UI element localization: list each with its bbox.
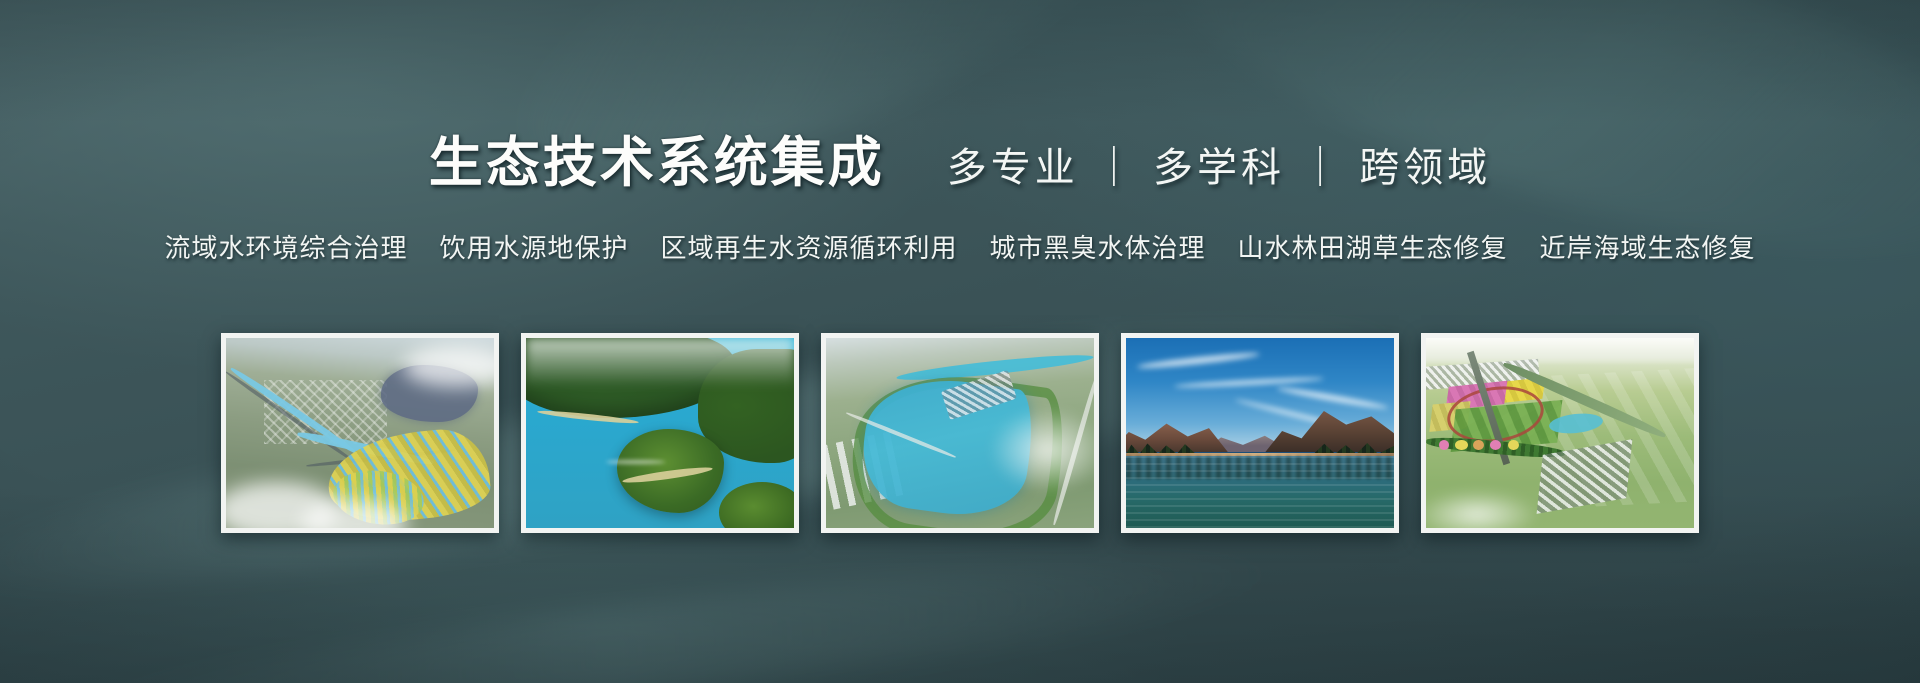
thumbnail-mountain-lake-reflection[interactable]: [1121, 333, 1399, 533]
thumbnail-reclaimed-water-corridor[interactable]: [821, 333, 1099, 533]
art5-horizon-glow: [1426, 338, 1694, 365]
art5-garden-plot-3: [1473, 440, 1484, 451]
thumbnail-image-2: [526, 338, 794, 528]
tagline-item-4: 城市黑臭水体治理: [990, 228, 1206, 265]
thumbnail-farmland-ecological-restoration[interactable]: [1421, 333, 1699, 533]
art2-water-glint: [606, 460, 665, 464]
thumbnail-image-1: [226, 338, 494, 528]
art3-mist: [987, 406, 1094, 493]
thumbnail-image-3: [826, 338, 1094, 528]
art-farmland-restoration: [1426, 338, 1694, 528]
art5-garden-plot-1: [1439, 440, 1450, 451]
art5-garden-plot-4: [1490, 440, 1502, 451]
hero-banner: 生态技术系统集成 多专业 ｜ 多学科 ｜ 跨领域 流域水环境综合治理 饮用水源地…: [0, 0, 1920, 683]
thumbnail-reservoir-source-protection[interactable]: [521, 333, 799, 533]
thumbnail-image-4: [1126, 338, 1394, 528]
headline-row: 生态技术系统集成 多专业 ｜ 多学科 ｜ 跨领域: [0, 118, 1920, 197]
headline-subtitle: 多专业 ｜ 多学科 ｜ 跨领域: [947, 135, 1491, 193]
tagline-item-3: 区域再生水资源循环利用: [660, 228, 957, 265]
thumbnail-strip: [0, 333, 1920, 533]
tagline-item-1: 流域水环境综合治理: [164, 228, 407, 265]
art5-mist: [1426, 490, 1539, 528]
thumbnail-river-basin-master-plan[interactable]: [221, 333, 499, 533]
art-river-corridor: [826, 338, 1094, 528]
tagline-item-5: 山水林田湖草生态修复: [1238, 228, 1508, 265]
art-turquoise-lake: [526, 338, 794, 528]
banner-content: 生态技术系统集成 多专业 ｜ 多学科 ｜ 跨领域 流域水环境综合治理 饮用水源地…: [0, 0, 1920, 683]
tagline-row: 流域水环境综合治理 饮用水源地保护 区域再生水资源循环利用 城市黑臭水体治理 山…: [0, 228, 1920, 265]
art5-garden-plot-5: [1508, 440, 1519, 451]
art5-garden-plots: [1437, 437, 1528, 454]
tagline-item-2: 饮用水源地保护: [439, 228, 628, 265]
thumbnail-image-5: [1426, 338, 1694, 528]
art4-water-sheen: [1126, 456, 1394, 528]
art5-garden-plot-2: [1455, 440, 1468, 451]
art-river-basin: [226, 338, 494, 528]
art2-wooded-island-secondary: [719, 482, 794, 528]
art2-sky-haze: [526, 338, 794, 387]
headline-main-title: 生态技术系统集成: [429, 118, 885, 197]
art-mountain-lake: [1126, 338, 1394, 528]
tagline-item-6: 近岸海域生态修复: [1540, 228, 1756, 265]
